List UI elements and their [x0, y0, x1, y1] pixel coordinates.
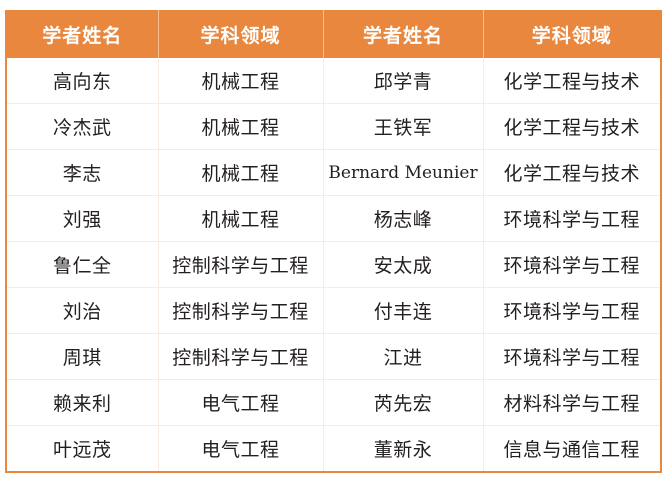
cell-discipline: 控制科学与工程: [158, 334, 323, 380]
cell-discipline: 环境科学与工程: [483, 334, 661, 380]
cell-scholar-name: 安太成: [323, 242, 483, 288]
cell-discipline: 环境科学与工程: [483, 288, 661, 334]
cell-scholar-name: 江进: [323, 334, 483, 380]
cell-scholar-name: 周琪: [6, 334, 158, 380]
scholar-table-container: 学者姓名 学科领域 学者姓名 学科领域 高向东机械工程邱学青化学工程与技术冷杰武…: [5, 10, 660, 492]
cell-discipline: 环境科学与工程: [483, 242, 661, 288]
cell-scholar-name: Bernard Meunier: [323, 150, 483, 196]
cell-discipline: 材料科学与工程: [483, 380, 661, 426]
table-row: 叶远茂电气工程董新永信息与通信工程: [6, 426, 661, 472]
column-header-scholar-name-2: 学者姓名: [323, 11, 483, 58]
column-header-scholar-name-1: 学者姓名: [6, 11, 158, 58]
table-header-row: 学者姓名 学科领域 学者姓名 学科领域: [6, 11, 661, 58]
cell-scholar-name: 董新永: [323, 426, 483, 472]
cell-scholar-name: 付丰连: [323, 288, 483, 334]
table-row: 冷杰武机械工程王铁军化学工程与技术: [6, 104, 661, 150]
cell-discipline: 电气工程: [158, 380, 323, 426]
table-row: 周琪控制科学与工程江进环境科学与工程: [6, 334, 661, 380]
table-row: 赖来利电气工程芮先宏材料科学与工程: [6, 380, 661, 426]
cell-scholar-name: 杨志峰: [323, 196, 483, 242]
table-row: 刘治控制科学与工程付丰连环境科学与工程: [6, 288, 661, 334]
column-header-discipline-2: 学科领域: [483, 11, 661, 58]
table-row: 高向东机械工程邱学青化学工程与技术: [6, 58, 661, 104]
scholar-table: 学者姓名 学科领域 学者姓名 学科领域 高向东机械工程邱学青化学工程与技术冷杰武…: [5, 10, 662, 473]
cell-discipline: 机械工程: [158, 150, 323, 196]
cell-scholar-name: 王铁军: [323, 104, 483, 150]
table-row: 李志机械工程Bernard Meunier化学工程与技术: [6, 150, 661, 196]
cell-discipline: 电气工程: [158, 426, 323, 472]
table-row: 鲁仁全控制科学与工程安太成环境科学与工程: [6, 242, 661, 288]
cell-scholar-name: 李志: [6, 150, 158, 196]
cell-discipline: 机械工程: [158, 58, 323, 104]
cell-discipline: 化学工程与技术: [483, 58, 661, 104]
cell-discipline: 化学工程与技术: [483, 150, 661, 196]
cell-discipline: 信息与通信工程: [483, 426, 661, 472]
table-row: 刘强机械工程杨志峰环境科学与工程: [6, 196, 661, 242]
cell-scholar-name: 高向东: [6, 58, 158, 104]
cell-scholar-name: 刘治: [6, 288, 158, 334]
column-header-discipline-1: 学科领域: [158, 11, 323, 58]
cell-scholar-name: 芮先宏: [323, 380, 483, 426]
cell-discipline: 机械工程: [158, 104, 323, 150]
cell-discipline: 化学工程与技术: [483, 104, 661, 150]
cell-scholar-name: 刘强: [6, 196, 158, 242]
cell-scholar-name: 邱学青: [323, 58, 483, 104]
cell-discipline: 机械工程: [158, 196, 323, 242]
cell-discipline: 控制科学与工程: [158, 288, 323, 334]
table-body: 高向东机械工程邱学青化学工程与技术冷杰武机械工程王铁军化学工程与技术李志机械工程…: [6, 58, 661, 472]
cell-discipline: 控制科学与工程: [158, 242, 323, 288]
cell-scholar-name: 叶远茂: [6, 426, 158, 472]
cell-scholar-name: 赖来利: [6, 380, 158, 426]
table-header: 学者姓名 学科领域 学者姓名 学科领域: [6, 11, 661, 58]
cell-discipline: 环境科学与工程: [483, 196, 661, 242]
cell-scholar-name: 冷杰武: [6, 104, 158, 150]
cell-scholar-name: 鲁仁全: [6, 242, 158, 288]
